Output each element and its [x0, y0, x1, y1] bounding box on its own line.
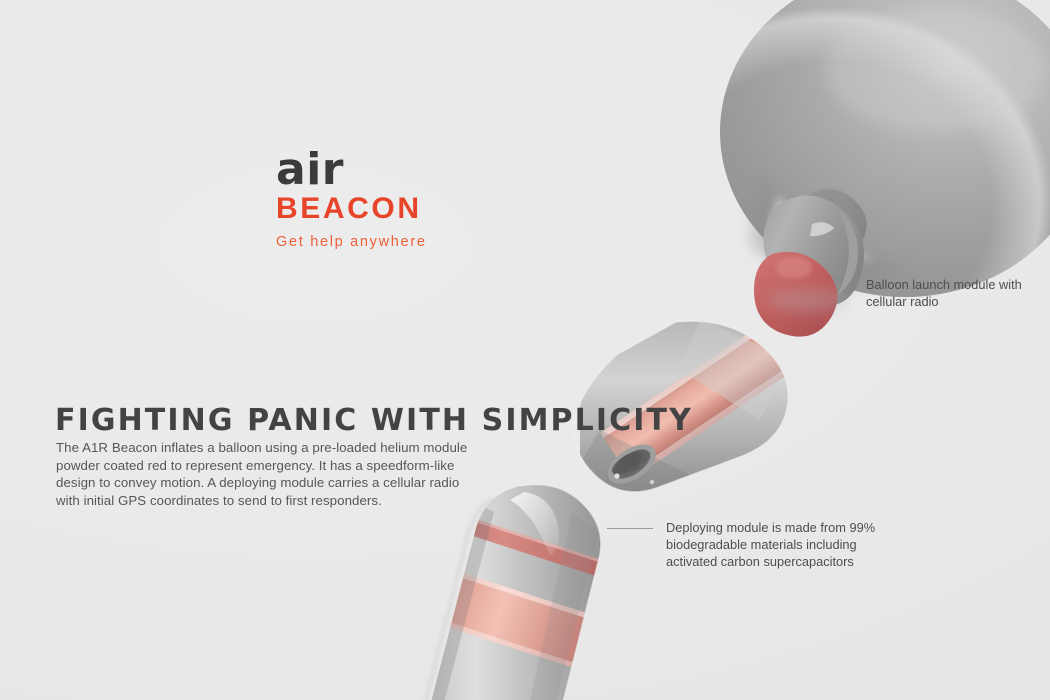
- callout-deploying-module: Deploying module is made from 99% biodeg…: [666, 519, 906, 570]
- background-wash: [0, 0, 1050, 700]
- callout-leader-line: [607, 528, 653, 529]
- brand-tagline: Get help anywhere: [276, 234, 576, 250]
- callout-balloon-launch-module: Balloon launch module with cellular radi…: [866, 276, 1038, 310]
- presentation-canvas: air BEACON Get help anywhere FIGHTING PA…: [0, 0, 1050, 700]
- brand-wordmark-air: air: [276, 148, 576, 192]
- body-paragraph: The A1R Beacon inflates a balloon using …: [56, 439, 476, 509]
- brand-logo-lockup: air BEACON Get help anywhere: [276, 148, 576, 250]
- page-headline: FIGHTING PANIC WITH SIMPLICITY: [55, 404, 693, 438]
- brand-wordmark-beacon: BEACON: [276, 193, 576, 225]
